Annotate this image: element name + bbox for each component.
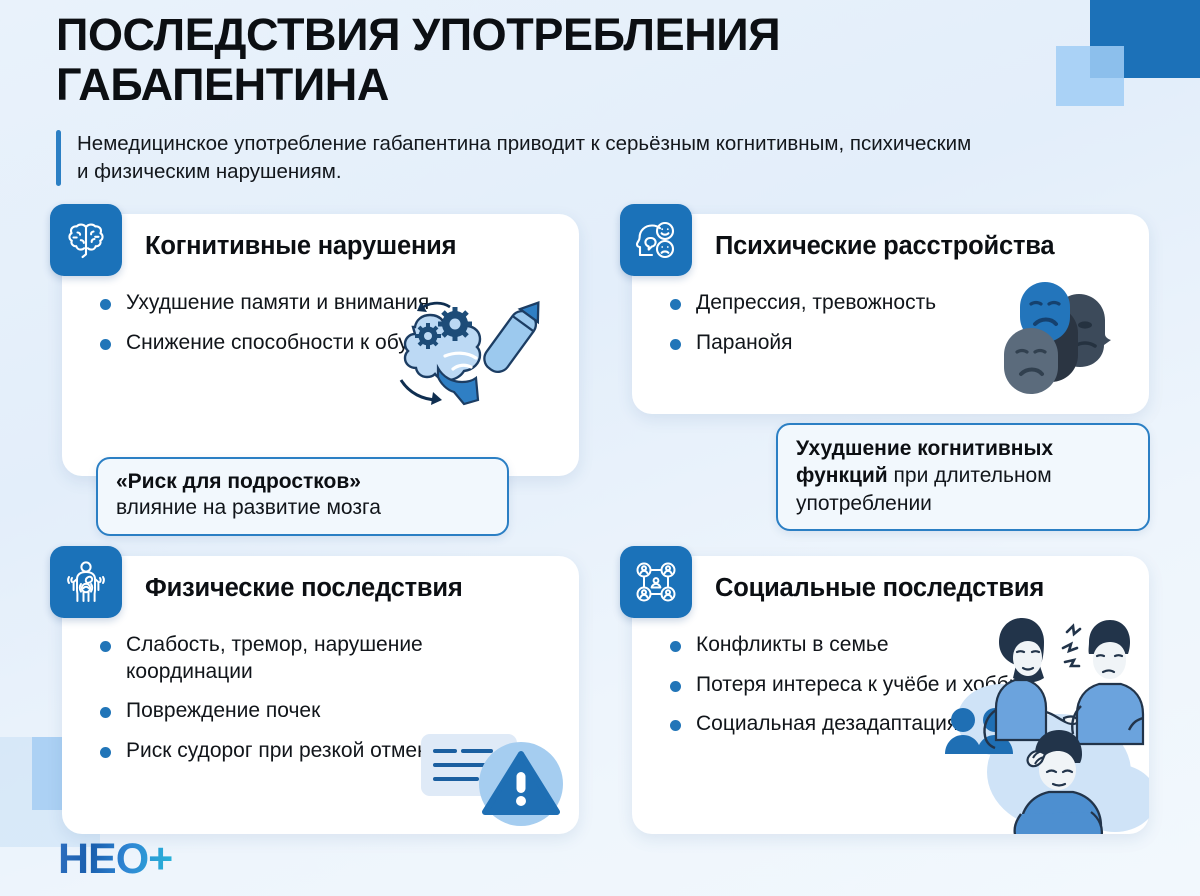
list-item: Снижение способности к обучению [96,330,496,357]
list-item: Слабость, тремор, нарушение координации [96,632,496,685]
bullet-list: Конфликты в семье Потеря интереса к учёб… [666,632,1066,751]
bullet-list: Слабость, тремор, нарушение координации … [96,632,496,778]
list-item: Паранойя [666,330,1066,357]
callout-teen-risk: «Риск для подростков» влияние на развити… [96,457,509,536]
callout-body: влияние на развитие мозга [116,495,489,521]
subtitle-accent-bar [56,130,61,187]
card-mental-disorders: Психические расстройства Депрессия, трев… [632,214,1149,414]
header: ПОСЛЕДСТВИЯ УПОТРЕБЛЕНИЯ ГАБАПЕНТИНА Нем… [56,10,1056,186]
card-physical-consequences: Физические последствия Слабость, тремор,… [62,556,579,834]
subtitle-block: Немедицинское употребление габапентина п… [56,130,1056,187]
list-item: Ухудшение памяти и внимания [96,290,496,317]
people-network-icon [620,546,692,618]
callout-body: Ухудшение когнитивных функций при длител… [796,435,1130,517]
bullet-list: Ухудшение памяти и внимания Снижение спо… [96,290,496,369]
brain-icon [50,204,122,276]
list-item: Конфликты в семье [666,632,1066,659]
decorative-square-dark [1090,0,1200,78]
decorative-square-light [1056,46,1124,106]
card-title: Когнитивные нарушения [145,232,456,261]
subtitle-text: Немедицинское употребление габапентина п… [77,130,977,187]
brand-logo: НЕО+ [58,835,172,884]
list-item: Потеря интереса к учёбе и хобби [666,672,1066,699]
card-social-consequences: Социальные последствия Конфликты в семье… [632,556,1149,834]
page-title: ПОСЛЕДСТВИЯ УПОТРЕБЛЕНИЯ ГАБАПЕНТИНА [56,10,836,111]
callout-longterm-use: Ухудшение когнитивных функций при длител… [776,423,1150,531]
list-item: Повреждение почек [96,698,496,725]
decorative-square-bottom-small [32,737,66,810]
head-emotions-icon [620,204,692,276]
card-title: Физические последствия [145,574,463,603]
card-title: Социальные последствия [715,574,1044,603]
list-item: Социальная дезадаптация [666,711,1066,738]
list-item: Риск судорог при резкой отмене [96,738,496,765]
list-item: Депрессия, тревожность [666,290,1066,317]
callout-title: «Риск для подростков» [116,469,489,495]
card-title: Психические расстройства [715,232,1054,261]
card-cognitive-disorders: Когнитивные нарушения Ухудшение памяти и… [62,214,579,476]
bullet-list: Депрессия, тревожность Паранойя [666,290,1066,369]
body-organs-icon [50,546,122,618]
